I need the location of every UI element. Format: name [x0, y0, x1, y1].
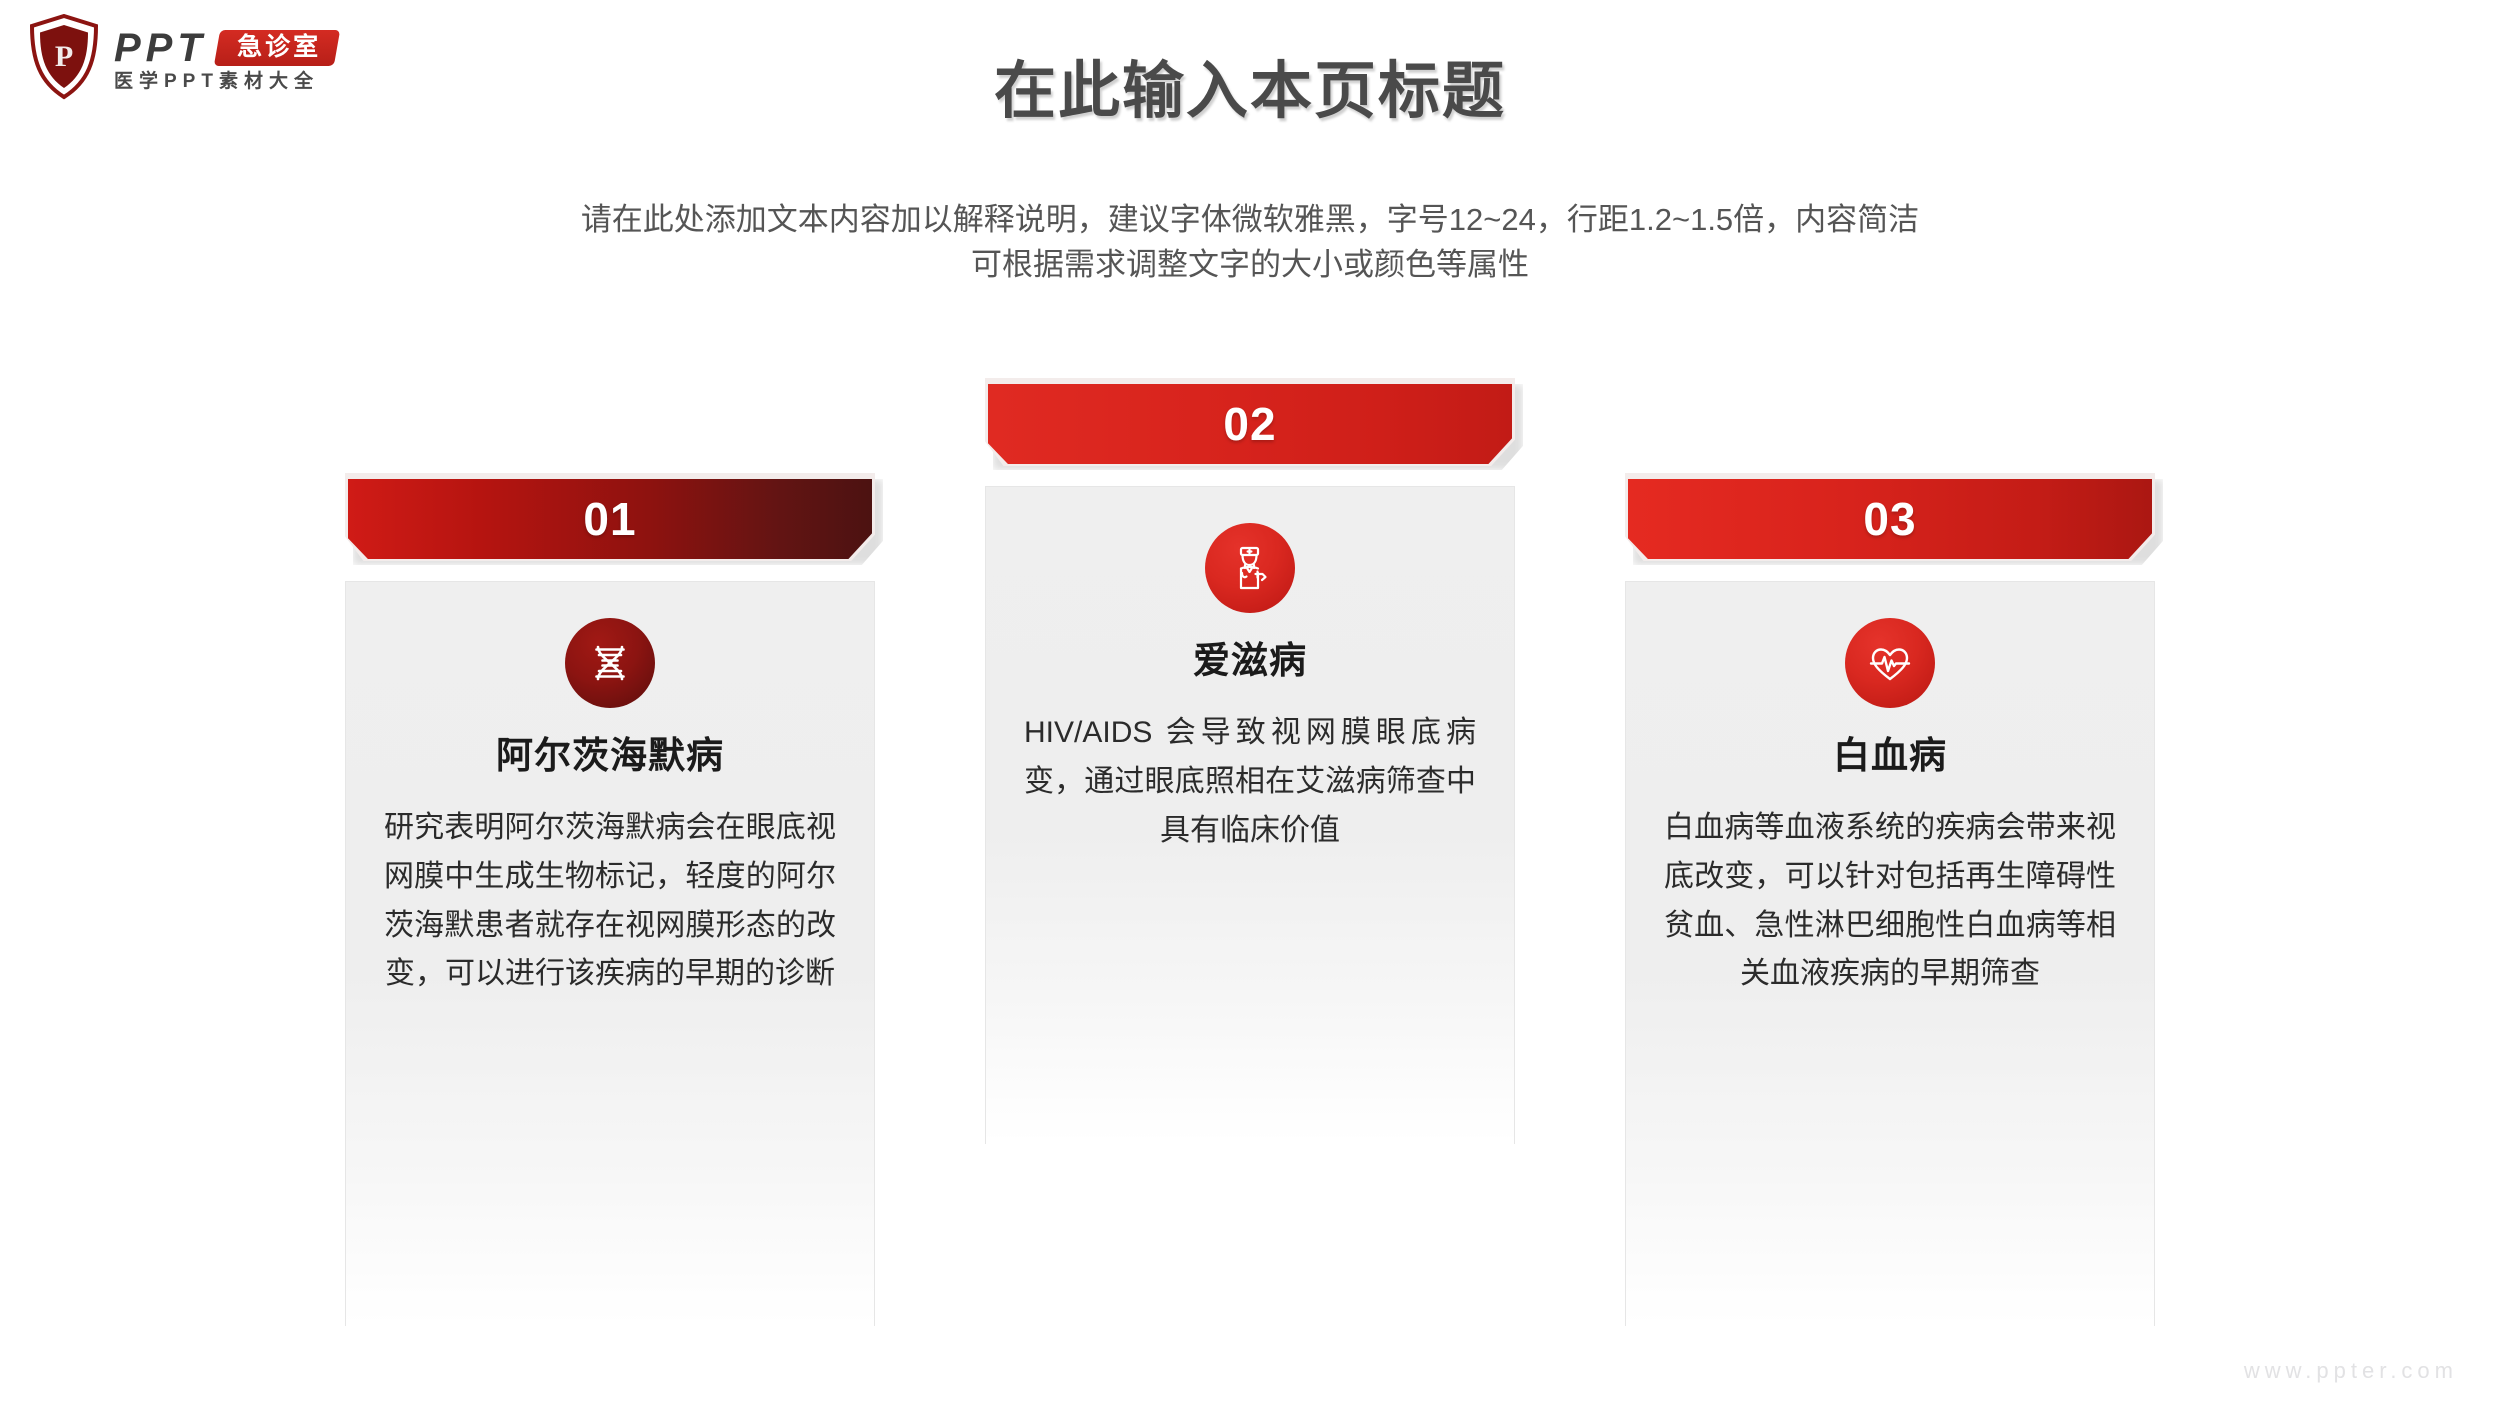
card-number-label: 02	[1223, 401, 1276, 447]
card-panel: 阿尔茨海默病 研究表明阿尔茨海默病会在眼底视网膜中生成生物标记，轻度的阿尔茨海默…	[345, 581, 875, 1326]
doctor-icon	[1205, 523, 1295, 613]
card-body: 白血病等血液系统的疾病会带来视底改变，可以针对包括再生障碍性贫血、急性淋巴细胞性…	[1664, 804, 2116, 998]
heart-pulse-icon	[1845, 618, 1935, 708]
card-03[interactable]: 03 白血病 白血病等血液系统的疾病会带来视底改变，可以针对包括再生障碍性贫血、…	[1625, 473, 2155, 1326]
card-panel: 爱滋病 HIV/AIDS 会导致视网膜眼底病变，通过眼底照相在艾滋病筛查中具有临…	[985, 486, 1515, 1144]
card-body: 研究表明阿尔茨海默病会在眼底视网膜中生成生物标记，轻度的阿尔茨海默患者就存在视网…	[384, 804, 836, 998]
card-number-label: 03	[1863, 496, 1916, 542]
banner-fill: 02	[988, 384, 1512, 464]
banner-fill: 03	[1628, 479, 2152, 559]
card-title: 阿尔茨海默病	[384, 734, 836, 778]
card-02[interactable]: 02 爱滋病 HIV/AIDS 会导致视网膜眼底病变，通过	[985, 378, 1515, 1144]
card-number-banner: 02	[985, 378, 1515, 468]
card-01[interactable]: 01 阿尔茨海默病 研究表明阿尔茨海默病会在眼底视网膜中生成生物标记，轻度的阿尔…	[345, 473, 875, 1326]
cards-container: 01 阿尔茨海默病 研究表明阿尔茨海默病会在眼底视网膜中生成生物标记，轻度的阿尔…	[0, 0, 2500, 1406]
card-panel: 白血病 白血病等血液系统的疾病会带来视底改变，可以针对包括再生障碍性贫血、急性淋…	[1625, 581, 2155, 1326]
card-title: 爱滋病	[1024, 639, 1476, 683]
footer-site-url: www.ppter.com	[2244, 1358, 2458, 1384]
dna-icon	[565, 618, 655, 708]
card-title: 白血病	[1664, 734, 2116, 778]
card-number-label: 01	[583, 496, 636, 542]
card-number-banner: 01	[345, 473, 875, 563]
card-body: HIV/AIDS 会导致视网膜眼底病变，通过眼底照相在艾滋病筛查中具有临床价值	[1024, 709, 1476, 855]
card-number-banner: 03	[1625, 473, 2155, 563]
banner-fill: 01	[348, 479, 872, 559]
